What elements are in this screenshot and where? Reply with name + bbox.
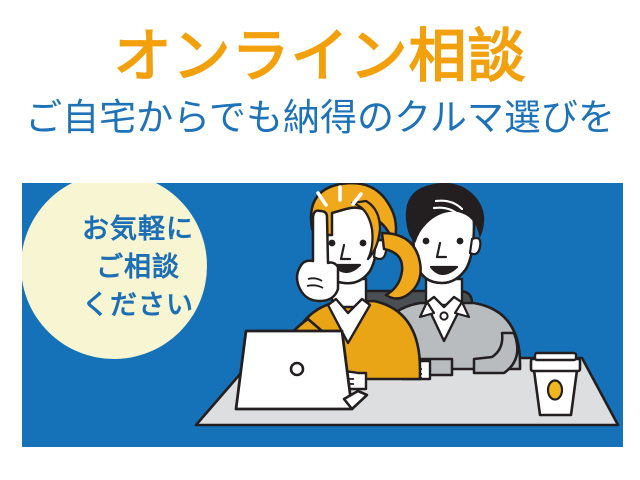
online-consultation-banner: オンライン相談 ご自宅からでも納得のクルマ選びを (0, 0, 640, 480)
page-subtitle: ご自宅からでも納得のクルマ選びを (0, 94, 640, 142)
heading-block: オンライン相談 ご自宅からでも納得のクルマ選びを (0, 20, 640, 142)
illustration-svg (22, 183, 623, 447)
illustration-panel: お気軽に ご相談 ください (22, 183, 623, 447)
coffee-cup-icon (531, 353, 580, 415)
page-title: オンライン相談 (0, 20, 640, 92)
